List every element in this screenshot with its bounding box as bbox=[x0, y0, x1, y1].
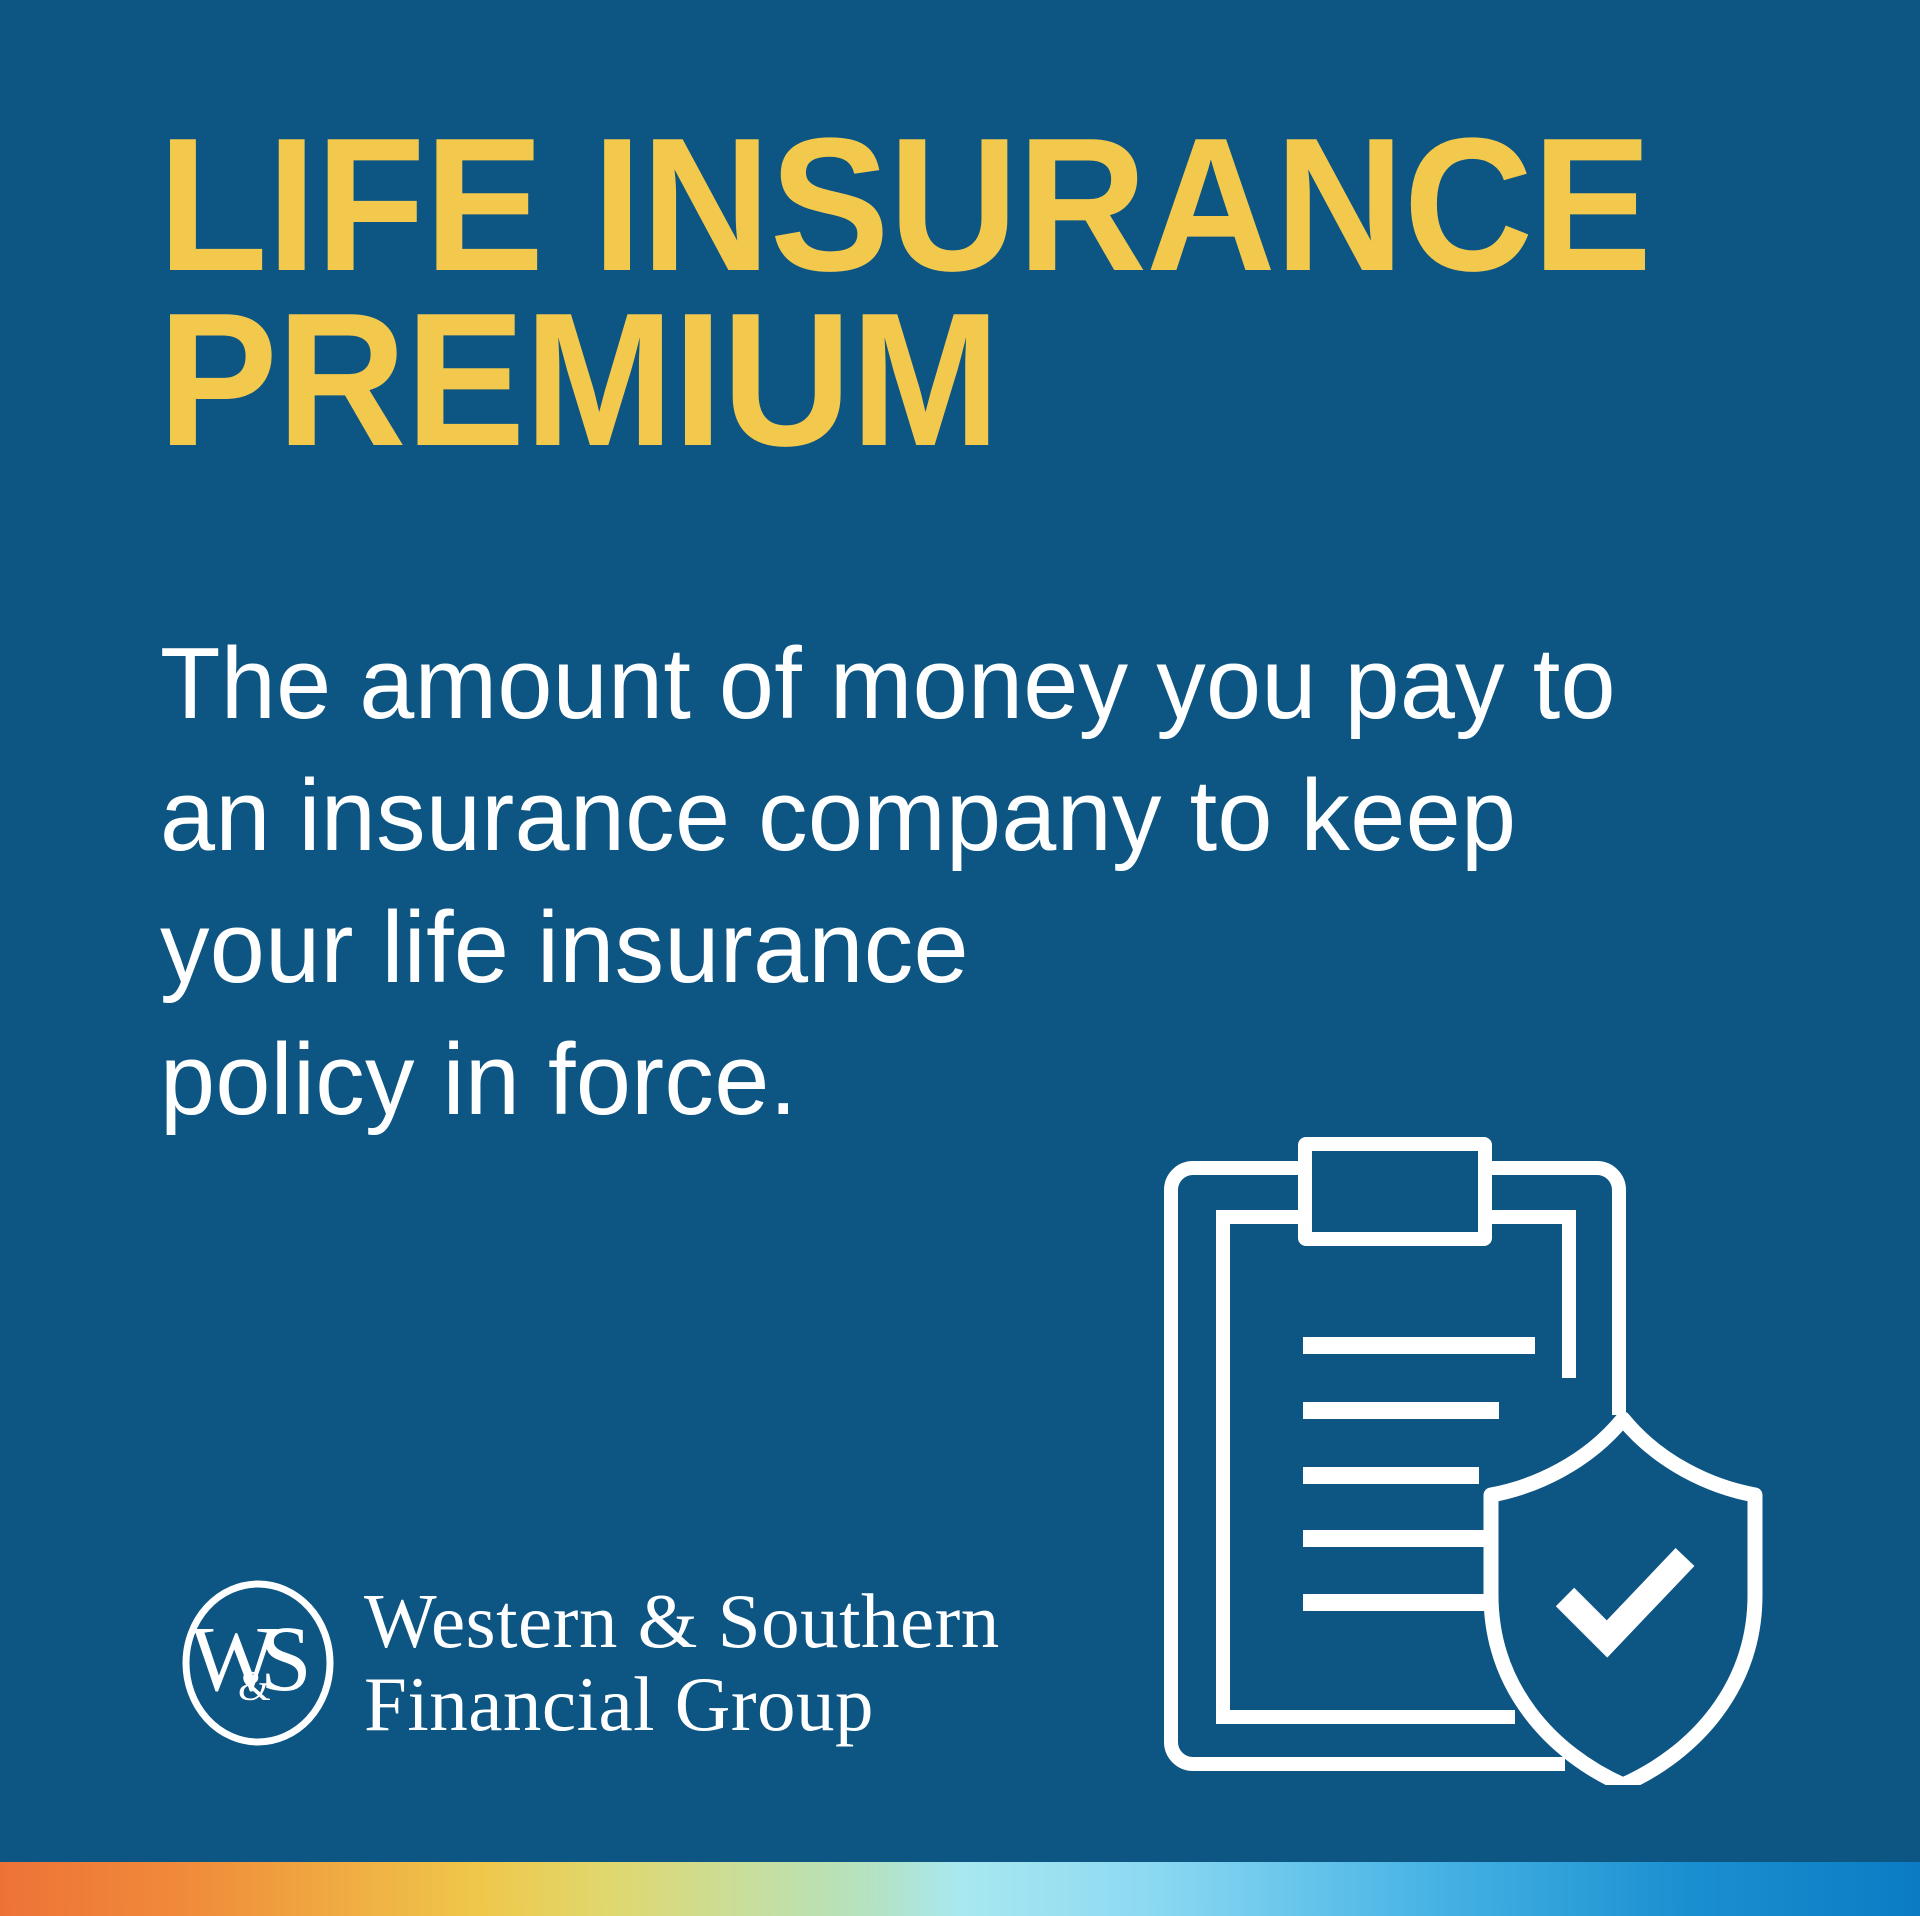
definition-line-1: The amount of money you pay to bbox=[160, 618, 1689, 750]
title-line-1: LIFE INSURANCE bbox=[158, 118, 1689, 293]
document-line-5 bbox=[1303, 1594, 1503, 1611]
brand-gradient-bar bbox=[0, 1862, 1920, 1916]
brand-name: Western & Southern Financial Group bbox=[364, 1580, 1000, 1746]
document-line-3 bbox=[1303, 1467, 1479, 1484]
svg-text:S: S bbox=[260, 1608, 312, 1711]
document-line-1 bbox=[1303, 1337, 1535, 1354]
clipboard-shield-check-icon bbox=[1155, 1125, 1795, 1785]
brand-name-line-1: Western & Southern bbox=[364, 1580, 1000, 1663]
brand-logo: W & S Western & Southern Financial Group bbox=[178, 1578, 1000, 1748]
shield-icon bbox=[1491, 1419, 1755, 1785]
document-line-2 bbox=[1303, 1402, 1499, 1419]
clipboard-clip-icon bbox=[1305, 1144, 1485, 1239]
document-line-4 bbox=[1303, 1530, 1485, 1547]
social-graphic-card: LIFE INSURANCE PREMIUM The amount of mon… bbox=[0, 0, 1920, 1916]
page-title: LIFE INSURANCE PREMIUM bbox=[158, 118, 1778, 468]
brand-name-line-2: Financial Group bbox=[364, 1663, 1000, 1746]
clipboard-outer-right bbox=[1485, 1168, 1619, 1415]
definition-line-3: your life insurance bbox=[160, 882, 1689, 1014]
definition-text: The amount of money you pay to an insura… bbox=[160, 618, 1720, 1146]
definition-line-2: an insurance company to keep bbox=[160, 750, 1689, 882]
title-line-2: PREMIUM bbox=[158, 293, 1689, 468]
ws-monogram-icon: W & S bbox=[178, 1578, 338, 1748]
